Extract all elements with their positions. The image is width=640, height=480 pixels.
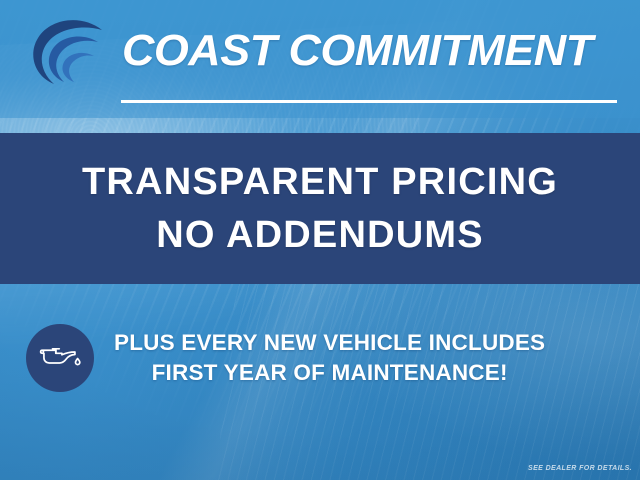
wave-swirl-logo-icon (24, 16, 108, 90)
oil-can-badge (26, 324, 94, 392)
coast-commitment-banner: COAST COMMITMENT TRANSPARENT PRICING NO … (0, 0, 640, 480)
promo-line-1: PLUS EVERY NEW VEHICLE INCLUDES (114, 328, 545, 358)
disclaimer-text: SEE DEALER FOR DETAILS. (528, 465, 632, 472)
promo-line-2: FIRST YEAR OF MAINTENANCE! (114, 358, 545, 388)
headline-line-2: NO ADDENDUMS (156, 209, 484, 262)
headline-line-1: TRANSPARENT PRICING (82, 156, 558, 209)
oil-can-icon (38, 341, 82, 375)
banner-header: COAST COMMITMENT (0, 0, 640, 118)
header-divider (121, 100, 617, 103)
page-title: COAST COMMITMENT (122, 22, 632, 80)
headline-band: TRANSPARENT PRICING NO ADDENDUMS (0, 133, 640, 284)
maintenance-promo: PLUS EVERY NEW VEHICLE INCLUDES FIRST YE… (0, 324, 640, 392)
promo-text-block: PLUS EVERY NEW VEHICLE INCLUDES FIRST YE… (114, 328, 545, 388)
